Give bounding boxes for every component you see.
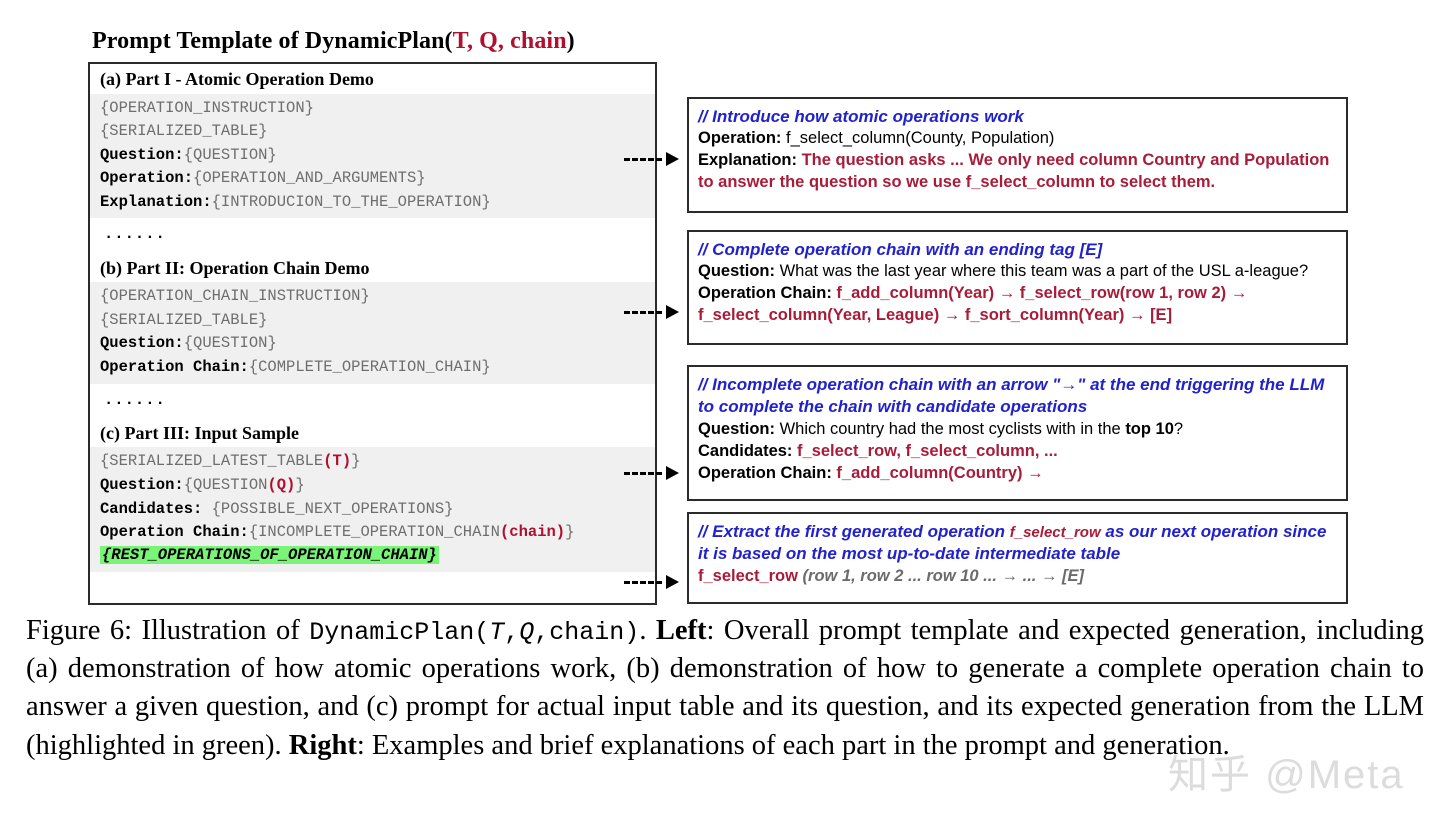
code-line-value: {COMPLETE_OPERATION_CHAIN} bbox=[249, 358, 491, 376]
row-text-tail: ? bbox=[1174, 420, 1183, 438]
row-label: Question: bbox=[698, 262, 775, 280]
code-line-label: Question: bbox=[100, 334, 184, 352]
code-line-label: Question: bbox=[100, 146, 184, 164]
row-text: f_add_column(Country) → bbox=[832, 464, 1044, 482]
code-line: {SERIALIZED_TABLE} bbox=[90, 120, 655, 144]
caption-text-4: : Examples and brief explanations of eac… bbox=[357, 730, 1230, 761]
code-line-value: {QUESTION} bbox=[184, 334, 277, 352]
explanation-box-1: // Introduce how atomic operations work … bbox=[687, 97, 1348, 213]
row-label: Candidates: bbox=[698, 442, 792, 460]
ellipsis-b: ...... bbox=[90, 384, 655, 418]
ellipsis-a: ...... bbox=[90, 218, 655, 252]
code-line-label: Explanation: bbox=[100, 193, 212, 211]
explanation-row: Operation Chain: f_add_column(Year) → f_… bbox=[698, 283, 1337, 327]
code-line-value: {OPERATION_CHAIN_INSTRUCTION} bbox=[100, 287, 370, 305]
dashed-line-icon bbox=[624, 158, 662, 161]
caption-text-1: Illustration of bbox=[132, 615, 309, 646]
caption-bold-left: Left bbox=[656, 615, 707, 646]
code-line-value: {OPERATION_AND_ARGUMENTS} bbox=[193, 169, 426, 187]
code-line: {OPERATION_INSTRUCTION} bbox=[90, 97, 655, 121]
row-label: Question: bbox=[698, 420, 775, 438]
code-line-param: (Q) bbox=[267, 476, 295, 494]
arrow-head-icon bbox=[666, 466, 679, 480]
caption-bold-right: Right bbox=[289, 730, 357, 761]
figure-title-params: T, Q, chain bbox=[453, 28, 567, 54]
code-line: Candidates: {POSSIBLE_NEXT_OPERATIONS} bbox=[90, 498, 655, 522]
code-line: Question:{QUESTION(Q)} bbox=[90, 474, 655, 498]
caption-mono-2: ,chain) bbox=[534, 618, 639, 647]
dashed-line-icon bbox=[624, 581, 662, 584]
figure-title: Prompt Template of DynamicPlan(T, Q, cha… bbox=[92, 28, 575, 55]
explanation-row: Question: What was the last year where t… bbox=[698, 261, 1337, 283]
caption-param-t: T bbox=[489, 618, 504, 647]
code-line-value: {INCOMPLETE_OPERATION_CHAIN bbox=[249, 523, 500, 541]
figure-caption: Figure 6: Illustration of DynamicPlan(T,… bbox=[26, 612, 1424, 765]
code-line: Question:{QUESTION} bbox=[90, 144, 655, 168]
code-line-label: Question: bbox=[100, 476, 184, 494]
row-label: Operation: bbox=[698, 129, 781, 147]
row-text: f_select_column(County, Population) bbox=[781, 129, 1054, 147]
explanation-row: Candidates: f_select_row, f_select_colum… bbox=[698, 441, 1337, 463]
row-text: (row 1, row 2 ... row 10 ... → ... → [E] bbox=[798, 567, 1084, 585]
explanation-box-2: // Complete operation chain with an endi… bbox=[687, 230, 1348, 345]
code-line-value: {OPERATION_INSTRUCTION} bbox=[100, 99, 314, 117]
explanation-box-3: // Incomplete operation chain with an ar… bbox=[687, 365, 1348, 501]
generation-line-wrapper: {REST_OPERATIONS_OF_OPERATION_CHAIN} bbox=[90, 545, 655, 568]
explanation-comment: // Incomplete operation chain with an ar… bbox=[698, 374, 1337, 419]
explanation-comment: // Complete operation chain with an endi… bbox=[698, 239, 1337, 261]
caption-number: Figure 6: bbox=[26, 615, 132, 646]
part-header-c: (c) Part III: Input Sample bbox=[90, 418, 655, 448]
code-block-part-c: {SERIALIZED_LATEST_TABLE(T)} Question:{Q… bbox=[90, 447, 655, 571]
code-line-value-post: } bbox=[295, 476, 304, 494]
code-line-param: (chain) bbox=[500, 523, 565, 541]
row-label: f_select_row bbox=[698, 567, 798, 585]
code-line-value: {POSSIBLE_NEXT_OPERATIONS} bbox=[202, 500, 453, 518]
caption-mono-1: DynamicPlan( bbox=[309, 618, 489, 647]
expected-generation-highlight: {REST_OPERATIONS_OF_OPERATION_CHAIN} bbox=[100, 546, 439, 564]
code-line-label: Operation Chain: bbox=[100, 358, 249, 376]
figure-title-prefix: Prompt Template of DynamicPlan( bbox=[92, 28, 453, 54]
code-line: Question:{QUESTION} bbox=[90, 332, 655, 356]
code-line-value: {QUESTION} bbox=[184, 146, 277, 164]
code-line: Explanation:{INTRODUCION_TO_THE_OPERATIO… bbox=[90, 191, 655, 215]
explanation-comment: // Introduce how atomic operations work bbox=[698, 106, 1337, 128]
caption-param-q: Q bbox=[519, 618, 534, 647]
row-label: Operation Chain: bbox=[698, 464, 832, 482]
code-line-value: {SERIALIZED_TABLE} bbox=[100, 122, 267, 140]
row-text: f_select_row, f_select_column, ... bbox=[792, 442, 1057, 460]
code-block-part-a: {OPERATION_INSTRUCTION} {SERIALIZED_TABL… bbox=[90, 94, 655, 219]
code-line-value: {SERIALIZED_TABLE} bbox=[100, 311, 267, 329]
code-line: Operation:{OPERATION_AND_ARGUMENTS} bbox=[90, 167, 655, 191]
arrow-head-icon bbox=[666, 575, 679, 589]
code-line-value-post: } bbox=[351, 452, 360, 470]
dashed-line-icon bbox=[624, 472, 662, 475]
comment-part-a: // Extract the first generated operation bbox=[698, 522, 1010, 541]
code-line-label: Operation: bbox=[100, 169, 193, 187]
figure-title-suffix: ) bbox=[567, 28, 575, 54]
explanation-box-4: // Extract the first generated operation… bbox=[687, 512, 1348, 604]
code-line-label: Operation Chain: bbox=[100, 523, 249, 541]
code-line: {OPERATION_CHAIN_INSTRUCTION} bbox=[90, 285, 655, 309]
arrow-head-icon bbox=[666, 305, 679, 319]
part-header-a: (a) Part I - Atomic Operation Demo bbox=[90, 64, 655, 94]
caption-text-2: . bbox=[639, 615, 656, 646]
row-text-bold: top 10 bbox=[1125, 420, 1174, 438]
row-text: Which country had the most cyclists with… bbox=[775, 420, 1125, 438]
arrow-head-icon bbox=[666, 152, 679, 166]
explanation-row: Operation: f_select_column(County, Popul… bbox=[698, 128, 1337, 150]
code-line-label: Candidates: bbox=[100, 500, 202, 518]
code-line: Operation Chain:{INCOMPLETE_OPERATION_CH… bbox=[90, 521, 655, 545]
part-header-b: (b) Part II: Operation Chain Demo bbox=[90, 253, 655, 283]
prompt-template-panel: (a) Part I - Atomic Operation Demo {OPER… bbox=[88, 62, 657, 605]
explanation-row: Question: Which country had the most cyc… bbox=[698, 419, 1337, 441]
explanation-row: f_select_row (row 1, row 2 ... row 10 ..… bbox=[698, 566, 1337, 588]
code-line: Operation Chain:{COMPLETE_OPERATION_CHAI… bbox=[90, 356, 655, 380]
row-label: Explanation: bbox=[698, 151, 797, 169]
explanation-comment: // Extract the first generated operation… bbox=[698, 521, 1337, 566]
code-line-value: {INTRODUCION_TO_THE_OPERATION} bbox=[212, 193, 491, 211]
code-line: {SERIALIZED_LATEST_TABLE(T)} bbox=[90, 450, 655, 474]
explanation-row: Explanation: The question asks ... We on… bbox=[698, 150, 1337, 194]
code-line-value: {QUESTION bbox=[184, 476, 268, 494]
explanation-row: Operation Chain: f_add_column(Country) → bbox=[698, 463, 1337, 485]
code-line-value-post: } bbox=[565, 523, 574, 541]
caption-comma-1: , bbox=[504, 618, 519, 647]
code-block-part-b: {OPERATION_CHAIN_INSTRUCTION} {SERIALIZE… bbox=[90, 282, 655, 383]
dashed-line-icon bbox=[624, 311, 662, 314]
code-line-value: {SERIALIZED_LATEST_TABLE bbox=[100, 452, 323, 470]
row-text: What was the last year where this team w… bbox=[775, 262, 1308, 280]
row-label: Operation Chain: bbox=[698, 284, 832, 302]
code-line: {SERIALIZED_TABLE} bbox=[90, 309, 655, 333]
code-line-param: (T) bbox=[323, 452, 351, 470]
comment-operation-name: f_select_row bbox=[1010, 524, 1101, 541]
